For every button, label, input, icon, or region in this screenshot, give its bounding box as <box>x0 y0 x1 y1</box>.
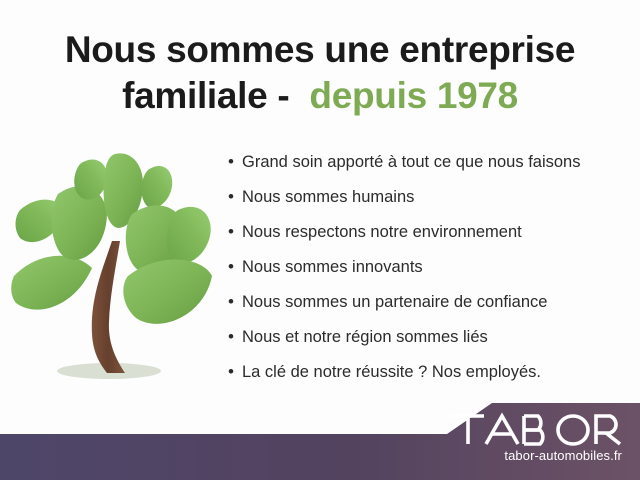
bullet-marker-icon: • <box>228 360 242 384</box>
list-item-label: La clé de notre réussite ? Nos employés. <box>242 360 541 384</box>
list-item: • Nous et notre région sommes liés <box>228 325 628 360</box>
bullet-marker-icon: • <box>228 290 242 314</box>
list-item-label: Grand soin apporté à tout ce que nous fa… <box>242 150 580 174</box>
list-item-label: Nous respectons notre environnement <box>242 220 522 244</box>
title-line-2-prefix: familiale - <box>122 75 309 116</box>
brand-tagline: tabor-automobiles.fr <box>442 448 622 463</box>
list-item: • La clé de notre réussite ? Nos employé… <box>228 360 628 395</box>
tree-illustration <box>8 148 222 396</box>
bullet-marker-icon: • <box>228 255 242 279</box>
list-item: • Nous sommes innovants <box>228 255 628 290</box>
brand-logo[interactable]: tabor-automobiles.fr <box>442 412 622 463</box>
list-item: • Grand soin apporté à tout ce que nous … <box>228 150 628 185</box>
tree-trunk <box>92 241 125 373</box>
brand-footer-bar: tabor-automobiles.fr <box>0 398 640 480</box>
bullet-marker-icon: • <box>228 185 242 209</box>
title-line-1: Nous sommes une entreprise <box>0 27 640 73</box>
page-title: Nous sommes une entreprise familiale - d… <box>0 27 640 119</box>
tabor-wordmark-icon <box>450 412 622 446</box>
list-item-label: Nous sommes innovants <box>242 255 423 279</box>
bullet-marker-icon: • <box>228 150 242 174</box>
list-item: • Nous sommes humains <box>228 185 628 220</box>
list-item-label: Nous sommes un partenaire de confiance <box>242 290 547 314</box>
list-item-label: Nous sommes humains <box>242 185 414 209</box>
bullet-marker-icon: • <box>228 220 242 244</box>
list-item: • Nous sommes un partenaire de confiance <box>228 290 628 325</box>
title-accent-year: depuis 1978 <box>309 75 518 116</box>
bullet-marker-icon: • <box>228 325 242 349</box>
benefits-list: • Grand soin apporté à tout ce que nous … <box>228 150 628 395</box>
list-item: • Nous respectons notre environnement <box>228 220 628 255</box>
title-line-2: familiale - depuis 1978 <box>0 73 640 119</box>
tree-leaves <box>11 153 212 323</box>
list-item-label: Nous et notre région sommes liés <box>242 325 488 349</box>
slide-canvas: Nous sommes une entreprise familiale - d… <box>0 0 640 480</box>
